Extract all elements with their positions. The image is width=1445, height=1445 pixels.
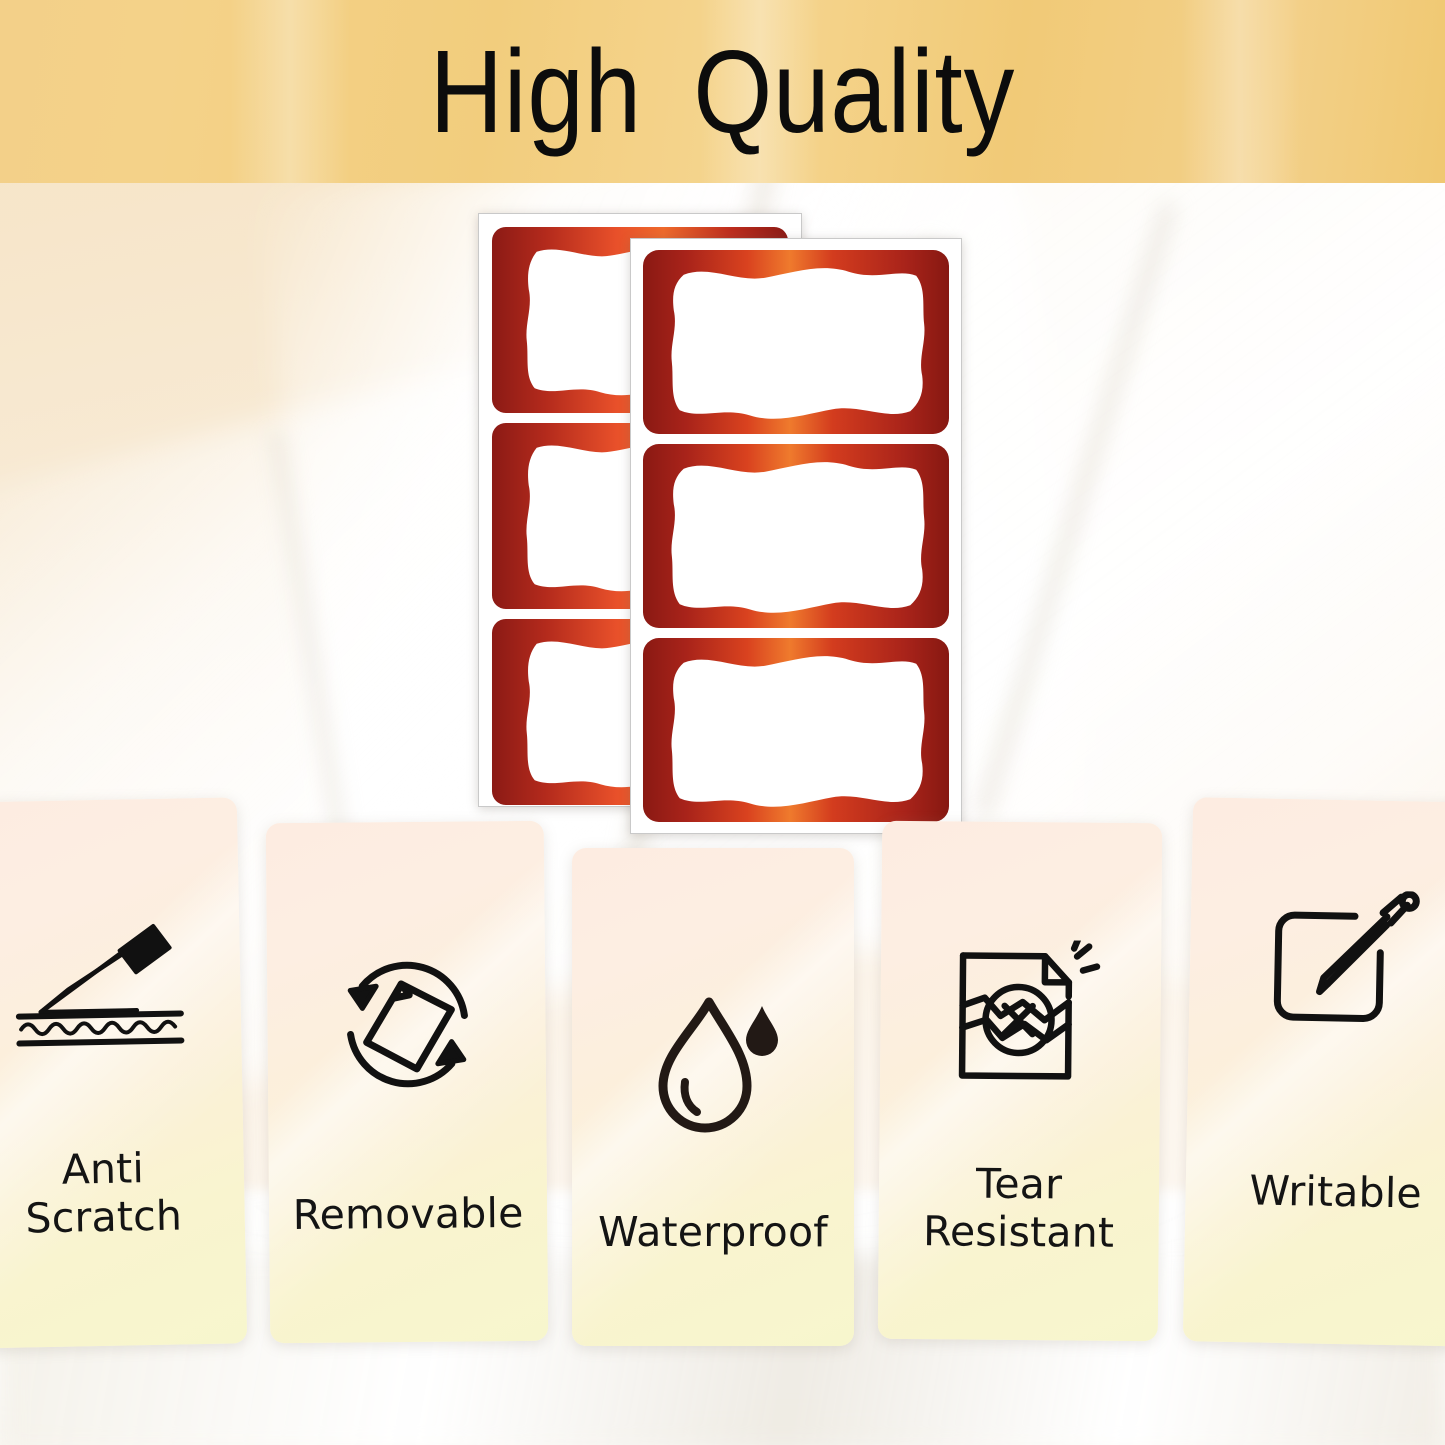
label-sticker <box>642 443 950 629</box>
label-sheet-front <box>630 238 962 834</box>
feature-card-waterproof[interactable]: Waterproof <box>572 848 854 1346</box>
blade-scratch-icon <box>0 887 242 1072</box>
water-droplet-icon <box>572 968 854 1158</box>
product-infographic: High Quality <box>0 0 1445 1445</box>
feature-label: Waterproof <box>572 1208 854 1256</box>
feature-label: Writable <box>1185 1165 1445 1219</box>
header-banner: High Quality <box>0 0 1445 183</box>
feature-card-removable[interactable]: Removable <box>266 821 549 1343</box>
page-title: High Quality <box>101 0 1344 183</box>
feature-card-tear-resistant[interactable]: Tear Resistant <box>878 821 1163 1341</box>
feature-card-writable[interactable]: Writable <box>1183 797 1445 1347</box>
feature-label: Tear Resistant <box>878 1159 1159 1258</box>
feature-label: Removable <box>269 1189 547 1240</box>
circular-arrows-tag-icon <box>267 933 547 1115</box>
feature-label: Anti Scratch <box>0 1142 245 1244</box>
label-sticker <box>642 637 950 823</box>
feature-card-anti-scratch[interactable]: Anti Scratch <box>0 797 247 1348</box>
torn-paper-cross-icon <box>880 929 1162 1111</box>
card-highlight <box>0 797 247 1348</box>
label-sticker <box>642 249 950 435</box>
pencil-square-edit-icon <box>1188 877 1445 1063</box>
